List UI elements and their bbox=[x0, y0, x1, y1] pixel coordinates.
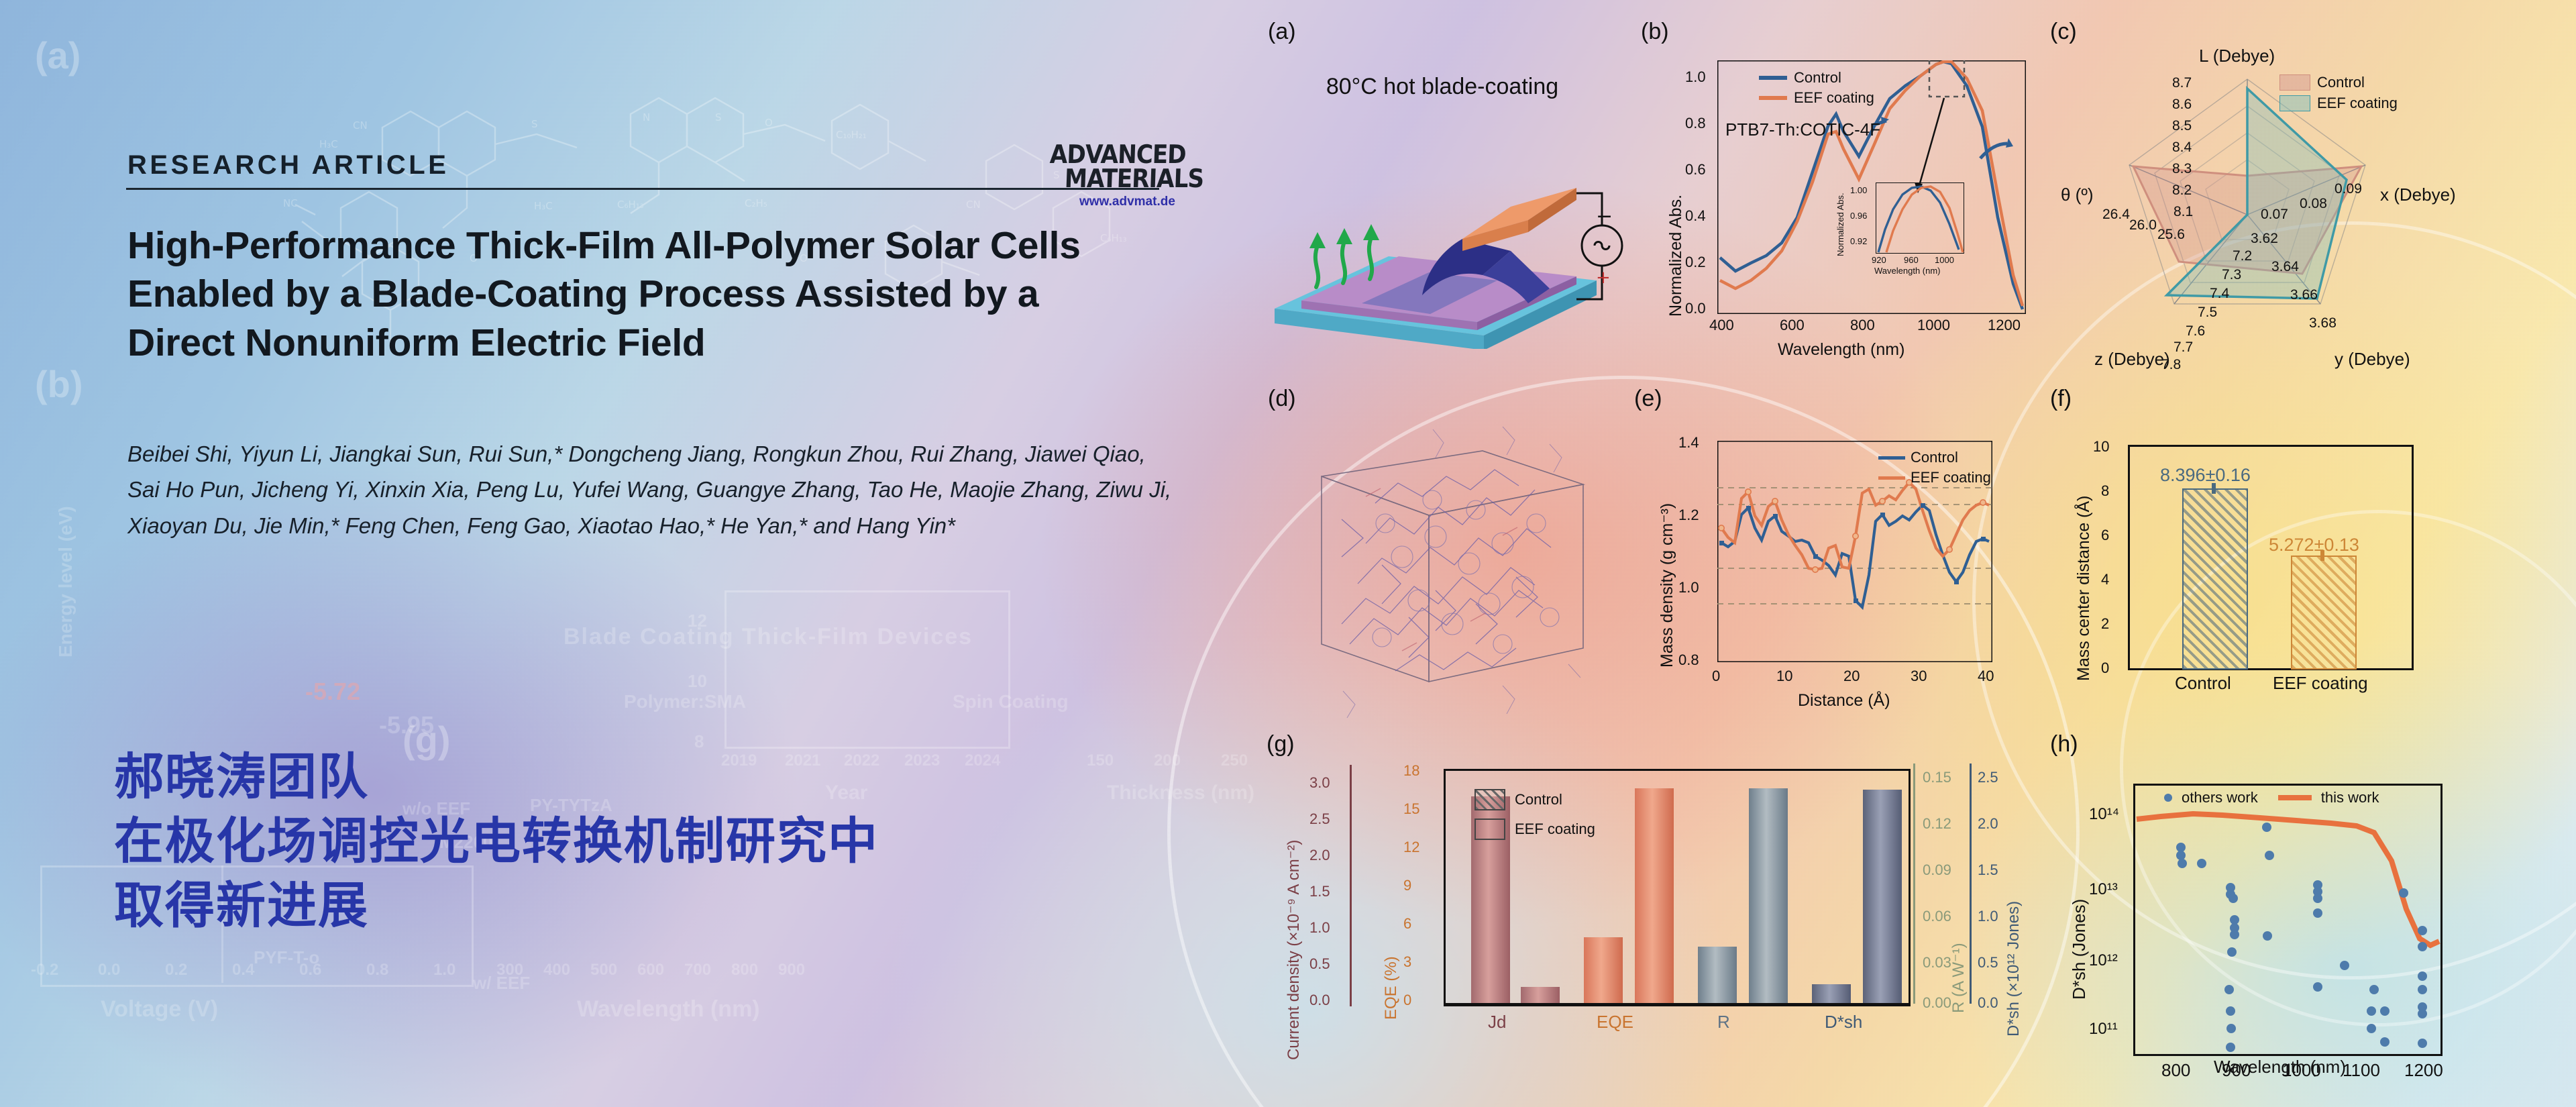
panel-g-y2tick-4: 12 bbox=[1403, 839, 1419, 856]
panel-f-value-eef: 5.272±0.13 bbox=[2269, 535, 2359, 556]
panel-h-scatter bbox=[2135, 786, 2440, 1054]
panel-c-L-tick-1: 8.6 bbox=[2172, 97, 2192, 113]
panel-b-ytick-1: 0.2 bbox=[1685, 254, 1706, 271]
panel-c-z-tick-2: 7.4 bbox=[2210, 286, 2229, 302]
panel-c-y-tick-1: 3.64 bbox=[2271, 259, 2299, 275]
panel-g-y3tick-5: 0.15 bbox=[1923, 769, 1951, 786]
panel-b-ytick-3: 0.6 bbox=[1685, 161, 1706, 178]
panel-g-bar-dsh-control bbox=[1812, 984, 1851, 1003]
panel-f-ytick-3: 6 bbox=[2101, 527, 2109, 544]
panel-c-L-tick-4: 8.3 bbox=[2172, 161, 2192, 177]
panel-c-z-tick-6: 7.8 bbox=[2161, 357, 2181, 373]
panel-a-tag: (a) bbox=[1268, 19, 1296, 45]
chinese-headline-line-3: 取得新进展 bbox=[114, 874, 919, 938]
panel-g-y1tick-2: 1.0 bbox=[1309, 919, 1330, 937]
panel-g-bar-r-control bbox=[1698, 947, 1737, 1003]
panel-f-bar-eef bbox=[2291, 556, 2357, 670]
panel-b-tag: (b) bbox=[1641, 19, 1669, 45]
panel-g-y3-axis-label: R (A W⁻¹) bbox=[1949, 943, 1968, 1013]
panel-f-bar-control bbox=[2182, 488, 2248, 670]
panel-b-inset: Normalized Abs. 1.00 0.96 0.92 920 960 1… bbox=[1838, 181, 1966, 282]
panel-b-xtick-0: 400 bbox=[1709, 317, 1734, 334]
panel-g-y4tick-0: 0.0 bbox=[1978, 994, 1998, 1012]
journal-logo-line-1: ADVANCED bbox=[1049, 142, 1224, 166]
panel-b-legend-swatch-eef bbox=[1759, 96, 1787, 100]
panel-g-y1tick-3: 1.5 bbox=[1309, 883, 1330, 900]
journal-url: www.advmat.de bbox=[1050, 195, 1224, 209]
panel-h-xtick-3: 1100 bbox=[2343, 1060, 2380, 1081]
panel-c-x-tick-1: 0.08 bbox=[2300, 196, 2327, 212]
panel-c-theta-tick-2: 25.6 bbox=[2157, 227, 2185, 243]
panel-d-tag: (d) bbox=[1268, 386, 1296, 412]
panel-f-tag: (f) bbox=[2050, 386, 2072, 412]
panel-c-z-tick-3: 7.5 bbox=[2198, 305, 2217, 321]
panel-g-y3-axis-line bbox=[1913, 763, 1915, 1004]
panel-h-tag: (h) bbox=[2050, 731, 2078, 757]
panel-h-plot-frame bbox=[2133, 784, 2443, 1056]
panel-b-xtick-1: 600 bbox=[1780, 317, 1805, 334]
panel-h-xtick-2: 1000 bbox=[2282, 1060, 2321, 1081]
panel-b: (b) Normalized Abs. Wavelength (nm) 0.0 … bbox=[1637, 13, 2039, 369]
panel-g-legend-label-control: Control bbox=[1515, 791, 1562, 808]
panel-g-y1tick-6: 3.0 bbox=[1309, 774, 1330, 792]
terminal-minus-label: − bbox=[1596, 205, 1613, 228]
panel-e-x-axis-label: Distance (Å) bbox=[1798, 691, 1890, 710]
panel-g-bar-r-eef bbox=[1749, 788, 1788, 1003]
panel-b-xtick-3: 1000 bbox=[1917, 317, 1950, 334]
panel-g-legend-swatch-control bbox=[1474, 789, 1505, 810]
panel-g-y1tick-1: 0.5 bbox=[1309, 955, 1330, 973]
panel-f: (f) Mass center distance (Å) 0 2 4 6 8 1… bbox=[2046, 386, 2475, 721]
panel-g-bar-jd-eef bbox=[1521, 987, 1560, 1003]
panel-h-y-axis-label: D*sh (Jones) bbox=[2069, 899, 2090, 1000]
panel-g-y4tick-1: 0.5 bbox=[1978, 954, 1998, 971]
panel-g-xtick-dsh: D*sh bbox=[1825, 1012, 1862, 1033]
panel-g-y2tick-3: 9 bbox=[1403, 877, 1411, 894]
panel-e-legend-label-eef: EEF coating bbox=[1911, 469, 1991, 486]
panel-c-L-tick-6: 8.1 bbox=[2173, 204, 2193, 220]
panel-g-y2-axis-label: EQE (%) bbox=[1382, 956, 1401, 1020]
panel-c-z-tick-4: 7.6 bbox=[2186, 323, 2205, 339]
panel-g-xtick-jd: Jd bbox=[1488, 1012, 1506, 1033]
panel-g-y4-axis-line bbox=[1970, 763, 1972, 1004]
panel-g-y4-axis-label: D*sh (×10¹² Jones) bbox=[2004, 901, 2023, 1037]
panel-e-legend-label-control: Control bbox=[1911, 449, 1958, 466]
panel-d: (d) bbox=[1261, 386, 1623, 721]
panel-h-legend-label-this: this work bbox=[2321, 789, 2379, 806]
panel-c-legend-swatch-control bbox=[2279, 74, 2310, 91]
panel-e-xtick-0: 0 bbox=[1712, 668, 1720, 685]
panel-h-xtick-1: 900 bbox=[2222, 1060, 2251, 1081]
panel-c-legend-label-control: Control bbox=[2317, 74, 2365, 91]
panel-c-z-tick-1: 7.3 bbox=[2222, 267, 2241, 283]
panel-b-y-axis-label: Normalized Abs. bbox=[1666, 195, 1686, 317]
journal-logo-line-2: MATERIALS bbox=[1049, 166, 1224, 191]
panel-e-xtick-2: 20 bbox=[1843, 668, 1860, 685]
panel-f-ytick-0: 0 bbox=[2101, 660, 2109, 677]
panel-c-z-tick-0: 7.2 bbox=[2233, 248, 2252, 264]
panel-e-tag: (e) bbox=[1634, 386, 1662, 412]
panel-g-legend-label-eef: EEF coating bbox=[1515, 821, 1595, 838]
panel-f-ytick-4: 8 bbox=[2101, 482, 2109, 500]
panel-b-inset-xtick-0: 920 bbox=[1872, 255, 1886, 265]
panel-b-xtick-2: 800 bbox=[1850, 317, 1875, 334]
panel-g-xtick-r: R bbox=[1717, 1012, 1730, 1033]
panel-e-xtick-1: 10 bbox=[1776, 668, 1792, 685]
panel-b-legend-swatch-control bbox=[1759, 76, 1787, 80]
panel-h-xtick-0: 800 bbox=[2161, 1060, 2190, 1081]
blade-coating-illustration: − + bbox=[1261, 107, 1623, 349]
panel-e-ytick-1: 1.0 bbox=[1678, 579, 1699, 596]
panel-b-inset-ytick-1: 0.96 bbox=[1850, 211, 1867, 221]
panel-e-ytick-2: 1.2 bbox=[1678, 507, 1699, 524]
panel-h-legend-swatch-this bbox=[2278, 795, 2312, 800]
panel-h-ytick-0: 10¹¹ bbox=[2089, 1020, 2118, 1039]
panel-e-xtick-3: 30 bbox=[1911, 668, 1927, 685]
panel-c-y-tick-0: 3.62 bbox=[2251, 231, 2278, 247]
panel-g-y2tick-5: 15 bbox=[1403, 800, 1419, 818]
panel-g-y3tick-0: 0.00 bbox=[1923, 994, 1951, 1012]
panel-c-theta-tick-0: 26.4 bbox=[2102, 207, 2130, 223]
terminal-plus-label: + bbox=[1596, 268, 1611, 288]
panel-b-legend-label-control: Control bbox=[1794, 69, 1841, 87]
panel-c-L-tick-2: 8.5 bbox=[2172, 118, 2192, 134]
panel-g-y2tick-6: 18 bbox=[1403, 762, 1419, 780]
panel-g-y1tick-5: 2.5 bbox=[1309, 810, 1330, 828]
molecular-dynamics-box bbox=[1301, 423, 1603, 718]
panel-g-y1tick-4: 2.0 bbox=[1309, 847, 1330, 864]
panel-g-legend: Control EEF coating bbox=[1474, 789, 1595, 840]
author-list: Beibei Shi, Yiyun Li, Jiangkai Sun, Rui … bbox=[127, 436, 1174, 543]
panel-f-ytick-5: 10 bbox=[2093, 438, 2109, 456]
panel-f-xtick-control: Control bbox=[2175, 673, 2231, 694]
panel-g-bar-eqe-control bbox=[1584, 937, 1623, 1003]
panel-h-legend: others work this work bbox=[2164, 789, 2379, 806]
panel-b-inset-xtick-1: 960 bbox=[1904, 255, 1919, 265]
panel-h-ytick-3: 10¹⁴ bbox=[2089, 805, 2119, 824]
panel-g-y2tick-2: 6 bbox=[1403, 915, 1411, 933]
panel-e: (e) Mass density (g cm⁻³) Distance (Å) 0… bbox=[1630, 386, 2039, 721]
panel-g-xtick-eqe: EQE bbox=[1597, 1012, 1633, 1033]
panel-h: (h) D*sh (Jones) Wavelength (nm) 10¹¹ 10… bbox=[2046, 731, 2475, 1097]
panel-c-theta-tick-1: 26.0 bbox=[2129, 217, 2157, 233]
panel-h-ytick-1: 10¹² bbox=[2089, 951, 2118, 970]
panel-g-y2tick-0: 0 bbox=[1403, 992, 1411, 1009]
panel-f-xtick-eef: EEF coating bbox=[2273, 673, 2368, 694]
panel-b-ytick-0: 0.0 bbox=[1685, 300, 1706, 317]
panel-c-tag: (c) bbox=[2050, 19, 2077, 45]
panel-g-legend-swatch-eef bbox=[1474, 819, 1505, 840]
chinese-headline-line-1: 郝晓涛团队 bbox=[114, 745, 919, 809]
panel-g-y1-axis-label: Current density (×10⁻⁹ A cm⁻²) bbox=[1284, 840, 1303, 1060]
panel-f-ytick-1: 2 bbox=[2101, 615, 2109, 633]
panel-c: (c) L (Debye) x (Debye) y (Debye) z (Deb… bbox=[2046, 13, 2475, 389]
panel-b-inset-xtick-2: 1000 bbox=[1935, 255, 1954, 265]
panel-b-inset-ytick-2: 1.00 bbox=[1850, 185, 1867, 195]
panel-e-ytick-0: 0.8 bbox=[1678, 651, 1699, 669]
panel-b-ytick-4: 0.8 bbox=[1685, 115, 1706, 132]
panel-g-y3tick-3: 0.09 bbox=[1923, 861, 1951, 879]
panel-g-y4tick-2: 1.0 bbox=[1978, 908, 1998, 925]
panel-a: (a) 80°C hot blade-coating bbox=[1261, 13, 1623, 362]
panel-f-value-control: 8.396±0.16 bbox=[2160, 465, 2251, 486]
panel-c-x-tick-0: 0.09 bbox=[2334, 181, 2362, 197]
article-title: High-Performance Thick-Film All-Polymer … bbox=[127, 221, 1087, 367]
panel-g-y3tick-2: 0.06 bbox=[1923, 908, 1951, 925]
editorial-block: RESEARCH ARTICLE ADVANCED MATERIALS www.… bbox=[0, 0, 1248, 1107]
panel-g-bar-eqe-eef bbox=[1635, 788, 1674, 1003]
panel-e-legend: Control EEF coating bbox=[1878, 449, 1991, 486]
panel-c-legend-swatch-eef bbox=[2279, 95, 2310, 111]
panel-b-inset-y-axis-label: Normalized Abs. bbox=[1835, 193, 1845, 256]
panel-b-inset-ytick-0: 0.92 bbox=[1850, 236, 1867, 246]
panel-c-L-tick-5: 8.2 bbox=[2172, 182, 2192, 199]
panel-c-legend-label-eef: EEF coating bbox=[2317, 95, 2398, 112]
panel-g-y3tick-4: 0.12 bbox=[1923, 815, 1951, 833]
panel-g-tag: (g) bbox=[1267, 731, 1295, 757]
panel-g-y4tick-3: 1.5 bbox=[1978, 861, 1998, 879]
panel-b-annotation: PTB7-Th:COTIC-4F bbox=[1725, 119, 1880, 140]
panel-c-legend: Control EEF coating bbox=[2279, 74, 2398, 112]
panel-h-legend-swatch-others bbox=[2164, 794, 2172, 802]
panel-f-y-axis-label: Mass center distance (Å) bbox=[2074, 496, 2094, 682]
panel-g-y1tick-0: 0.0 bbox=[1309, 992, 1330, 1009]
panel-e-ytick-3: 1.4 bbox=[1678, 434, 1699, 452]
research-article-kicker: RESEARCH ARTICLE bbox=[127, 150, 449, 180]
panel-b-ytick-5: 1.0 bbox=[1685, 68, 1706, 86]
panel-g-y2tick-1: 3 bbox=[1403, 953, 1411, 971]
panel-b-ytick-2: 0.4 bbox=[1685, 207, 1706, 225]
panel-e-y-axis-label: Mass density (g cm⁻³) bbox=[1657, 503, 1677, 668]
panel-c-y-tick-3: 3.68 bbox=[2309, 315, 2337, 331]
panel-b-legend-label-eef: EEF coating bbox=[1794, 89, 1874, 107]
panel-e-legend-swatch-eef bbox=[1878, 476, 1905, 480]
poster-canvas: (a) (b) (g) Energy level (eV) -5.72 -5.9… bbox=[0, 0, 2576, 1107]
panel-g-y1-axis-line bbox=[1350, 765, 1352, 1006]
panel-g-y3tick-1: 0.03 bbox=[1923, 954, 1951, 971]
kicker-divider bbox=[126, 188, 1159, 190]
panel-h-legend-label-others: others work bbox=[2182, 789, 2258, 806]
panel-g-y4tick-4: 2.0 bbox=[1978, 815, 1998, 833]
panel-c-axis-label-y: y (Debye) bbox=[2334, 349, 2410, 370]
panel-g-y4tick-5: 2.5 bbox=[1978, 769, 1998, 786]
panel-g: (g) Current density (×10⁻⁹ A cm⁻²) EQE (… bbox=[1261, 731, 2019, 1097]
journal-logo: ADVANCED MATERIALS www.advmat.de bbox=[1050, 142, 1224, 209]
panel-h-xtick-4: 1200 bbox=[2404, 1060, 2443, 1081]
panel-b-xtick-4: 1200 bbox=[1988, 317, 2021, 334]
panel-b-x-axis-label: Wavelength (nm) bbox=[1778, 340, 1904, 360]
panel-c-z-tick-5: 7.7 bbox=[2173, 339, 2193, 356]
panel-c-x-tick-2: 0.07 bbox=[2261, 207, 2288, 223]
panel-c-y-tick-2: 3.66 bbox=[2290, 287, 2318, 303]
chinese-headline: 郝晓涛团队 在极化场调控光电转换机制研究中 取得新进展 bbox=[114, 745, 919, 939]
panel-a-caption: 80°C hot blade-coating bbox=[1275, 74, 1610, 100]
panel-e-xtick-4: 40 bbox=[1978, 668, 1994, 685]
panel-b-inset-x-axis-label: Wavelength (nm) bbox=[1874, 266, 1941, 276]
panel-b-legend: Control EEF coating bbox=[1759, 69, 1874, 107]
figure-grid: (a) 80°C hot blade-coating bbox=[1248, 0, 2576, 1107]
panel-c-L-tick-0: 8.7 bbox=[2172, 75, 2192, 91]
panel-c-L-tick-3: 8.4 bbox=[2172, 140, 2192, 156]
panel-f-ytick-2: 4 bbox=[2101, 571, 2109, 588]
chinese-headline-line-2: 在极化场调控光电转换机制研究中 bbox=[114, 809, 919, 874]
panel-c-axis-label-z: z (Debye) bbox=[2094, 349, 2170, 370]
panel-e-legend-swatch-control bbox=[1878, 456, 1905, 460]
panel-g-bar-dsh-eef bbox=[1863, 790, 1902, 1003]
panel-h-ytick-2: 10¹³ bbox=[2089, 880, 2118, 899]
